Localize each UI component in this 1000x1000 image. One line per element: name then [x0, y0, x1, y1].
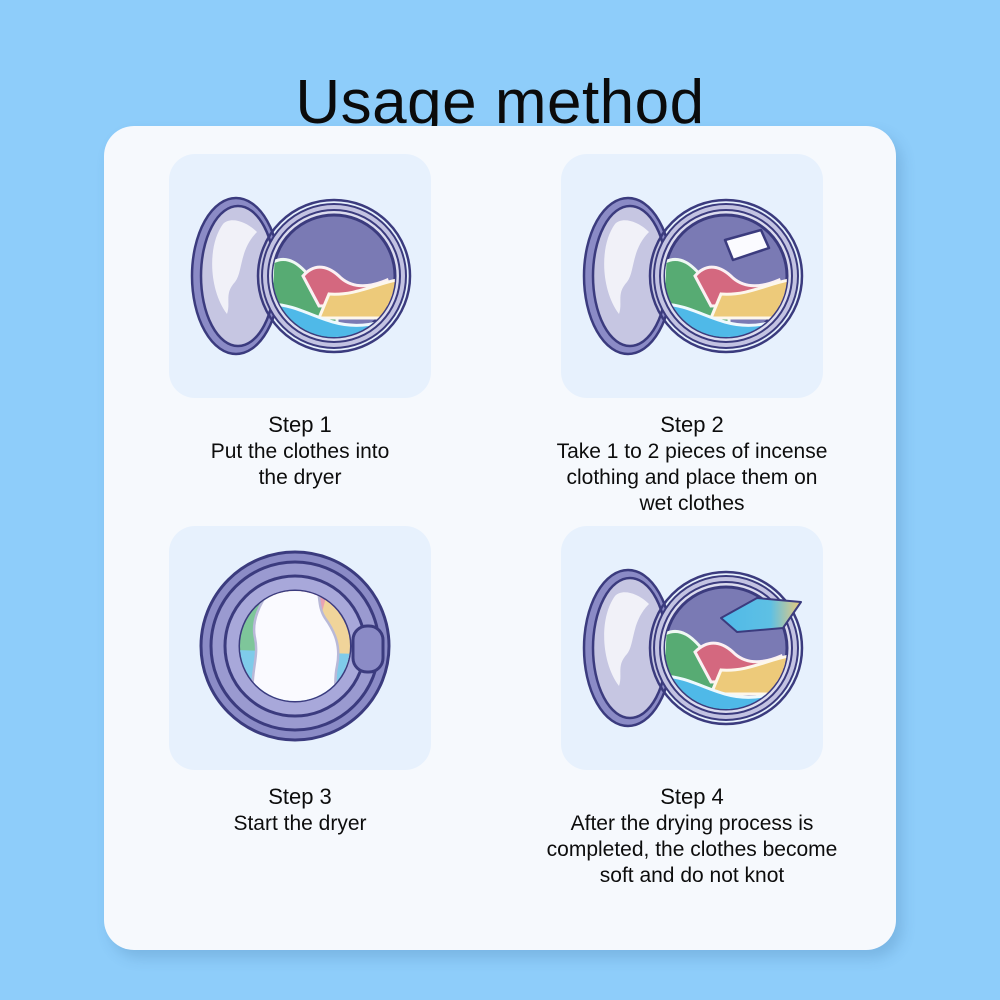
step-2-description: Take 1 to 2 pieces of incenseclothing an…	[522, 439, 862, 517]
step-1-label: Step 1	[130, 411, 470, 439]
step-1-illustration-tile	[169, 154, 431, 398]
step-4-description: After the drying process iscompleted, th…	[522, 811, 862, 889]
step-4-label: Step 4	[522, 783, 862, 811]
dryer-closed-running-icon	[169, 526, 431, 770]
step-2-label: Step 2	[522, 411, 862, 439]
dryer-open-with-sheet-icon	[561, 154, 823, 398]
dryer-open-with-clothes-icon	[169, 154, 431, 398]
steps-card: Step 1 Put the clothes intothe dryer	[104, 126, 896, 950]
step-item-1: Step 1 Put the clothes intothe dryer	[130, 154, 470, 491]
step-1-description: Put the clothes intothe dryer	[130, 439, 470, 491]
step-3-description: Start the dryer	[130, 811, 470, 837]
step-1-caption: Step 1 Put the clothes intothe dryer	[130, 411, 470, 491]
step-2-caption: Step 2 Take 1 to 2 pieces of incenseclot…	[522, 411, 862, 517]
step-4-illustration-tile	[561, 526, 823, 770]
step-3-caption: Step 3 Start the dryer	[130, 783, 470, 837]
step-item-3: Step 3 Start the dryer	[130, 526, 470, 837]
step-2-illustration-tile	[561, 154, 823, 398]
step-3-illustration-tile	[169, 526, 431, 770]
step-item-4: Step 4 After the drying process iscomple…	[522, 526, 862, 889]
dryer-open-cloth-out-icon	[561, 526, 823, 770]
steps-grid: Step 1 Put the clothes intothe dryer	[104, 126, 896, 950]
step-4-caption: Step 4 After the drying process iscomple…	[522, 783, 862, 889]
step-item-2: Step 2 Take 1 to 2 pieces of incenseclot…	[522, 154, 862, 517]
step-3-label: Step 3	[130, 783, 470, 811]
